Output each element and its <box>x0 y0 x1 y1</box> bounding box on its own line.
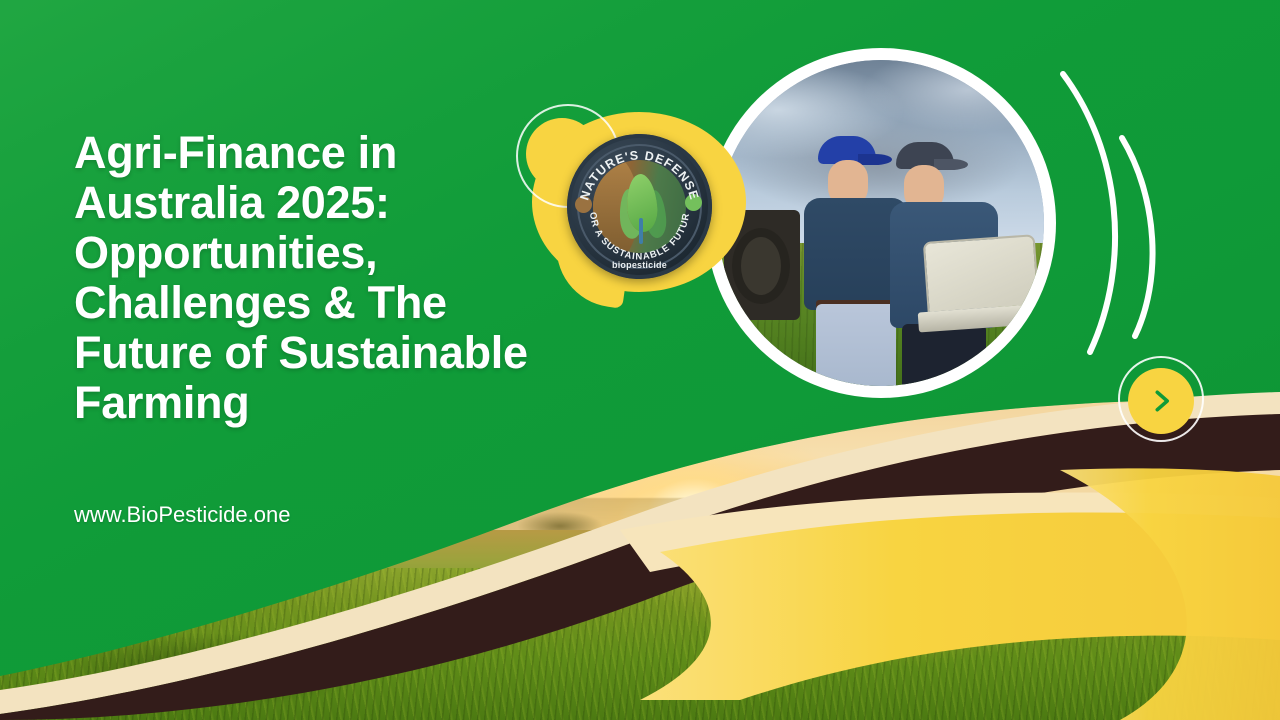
laptop-screen <box>923 234 1040 314</box>
chevron-right-icon <box>1146 386 1176 416</box>
farmers-photo <box>718 60 1044 386</box>
website-url: www.BioPesticide.one <box>74 502 290 528</box>
arc-outer <box>1063 74 1115 352</box>
farmer-left-jeans <box>816 304 896 386</box>
laptop-icon <box>913 234 1044 339</box>
banner-canvas: NATURE'S DEFENSE FOR A SUSTAINABLE FUTUR… <box>0 0 1280 720</box>
next-button[interactable] <box>1128 368 1194 434</box>
arc-inner <box>1122 138 1153 336</box>
farmers-photo-circle <box>706 48 1056 398</box>
page-title: Agri-Finance in Australia 2025: Opportun… <box>74 128 674 428</box>
